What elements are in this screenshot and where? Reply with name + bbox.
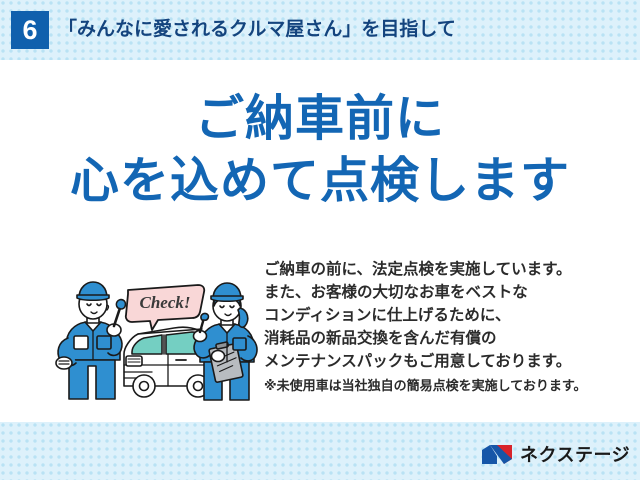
nextage-n-mark-icon	[481, 443, 513, 466]
body-line-3: コンディションに仕上げるために、	[264, 304, 626, 327]
headline-line-2: 心を込めて点検します	[0, 150, 640, 212]
header-title: 「みんなに愛されるクルマ屋さん」を目指して	[58, 14, 456, 46]
body-line-1: ご納車の前に、法定点検を実施しています。	[264, 258, 626, 281]
section-number-badge: 6	[11, 11, 49, 49]
promo-banner: 6 「みんなに愛されるクルマ屋さん」を目指して ご納車前に 心を込めて点検します	[0, 0, 640, 480]
body-line-2: また、お客様の大切なお車をベストな	[264, 281, 626, 304]
body-line-4: 消耗品の新品交換を含んだ有償の	[264, 327, 626, 350]
two-mechanics-with-van-illustration: Check!	[52, 268, 260, 404]
headline-line-1: ご納車前に	[0, 88, 640, 150]
male-mechanic-figure	[56, 282, 125, 399]
check-bubble-text: Check!	[140, 293, 191, 312]
body-line-5: メンテナンスパックもご用意しております。	[264, 350, 626, 373]
body-footnote: ※未使用車は当社独自の簡易点検を実施しております。	[264, 375, 626, 396]
page-headline: ご納車前に 心を込めて点検します	[0, 88, 640, 212]
mechanics-illustration-svg: Check!	[52, 268, 260, 404]
body-copy: ご納車の前に、法定点検を実施しています。 また、お客様の大切なお車をベストな コ…	[264, 258, 626, 396]
brand-logo-text: ネクステージ	[520, 441, 630, 467]
brand-logo: ネクステージ	[481, 441, 630, 467]
